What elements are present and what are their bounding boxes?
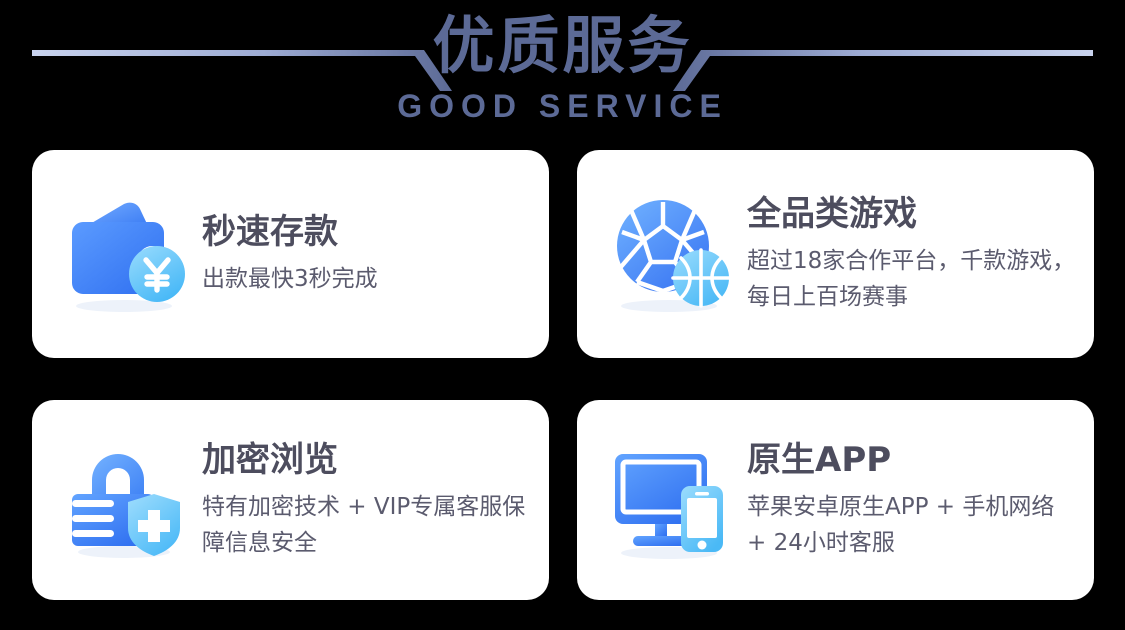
monitor-phone-icon [607, 436, 735, 564]
card-title: 秒速存款 [202, 211, 378, 253]
card-text-block: 秒速存款 出款最快3秒完成 [202, 211, 392, 297]
card-text-block: 原生APP 苹果安卓原生APP + 手机网络 + 24小时客服 [747, 439, 1094, 561]
card-title: 原生APP [747, 439, 1080, 481]
soccer-basketball-icon [607, 190, 735, 318]
headline-block: 优质服务 GOOD SERVICE [0, 8, 1125, 124]
feature-card-grid: 秒速存款 出款最快3秒完成 [32, 150, 1094, 600]
feature-card-deposit[interactable]: 秒速存款 出款最快3秒完成 [32, 150, 549, 358]
promo-banner: 优质服务 GOOD SERVICE [0, 0, 1125, 630]
feature-card-native-app[interactable]: 原生APP 苹果安卓原生APP + 手机网络 + 24小时客服 [577, 400, 1094, 600]
card-description: 苹果安卓原生APP + 手机网络 + 24小时客服 [747, 489, 1080, 561]
page-subtitle: GOOD SERVICE [0, 88, 1125, 124]
card-text-block: 加密浏览 特有加密技术 + VIP专属客服保障信息安全 [202, 439, 549, 561]
card-title: 全品类游戏 [747, 193, 1080, 235]
banner-header: 优质服务 GOOD SERVICE [0, 0, 1125, 145]
card-description: 超过18家合作平台，千款游戏，每日上百场赛事 [747, 243, 1080, 315]
card-description: 出款最快3秒完成 [202, 261, 378, 297]
feature-card-games[interactable]: 全品类游戏 超过18家合作平台，千款游戏，每日上百场赛事 [577, 150, 1094, 358]
card-text-block: 全品类游戏 超过18家合作平台，千款游戏，每日上百场赛事 [747, 193, 1094, 315]
wallet-yen-icon [62, 190, 190, 318]
card-description: 特有加密技术 + VIP专属客服保障信息安全 [202, 489, 535, 561]
lock-shield-icon [62, 436, 190, 564]
feature-card-encryption[interactable]: 加密浏览 特有加密技术 + VIP专属客服保障信息安全 [32, 400, 549, 600]
page-title: 优质服务 [0, 8, 1125, 84]
card-title: 加密浏览 [202, 439, 535, 481]
